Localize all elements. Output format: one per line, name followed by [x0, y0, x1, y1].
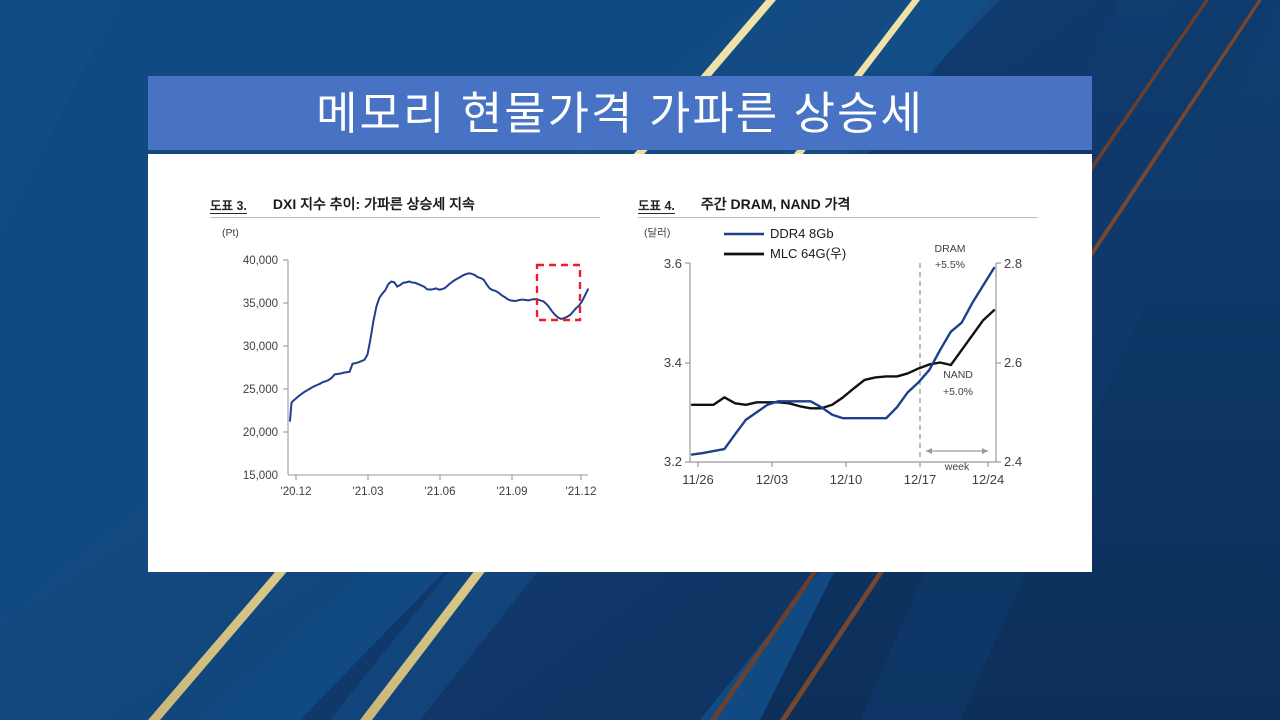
x-tick-2103: '21.03: [353, 486, 384, 498]
dram-nand-line-chart: (달러) DDR4 8Gb MLC 64G(우) 3.6 3.4 3.2 2.8…: [638, 218, 1038, 558]
y-right-tick-26: 2.6: [1004, 355, 1022, 370]
annotation-dram-label: DRAM: [935, 243, 966, 255]
legend-label-mlc: MLC 64G(우): [770, 246, 846, 261]
y-left-tick-36: 3.6: [664, 256, 682, 271]
x-tick-1203: 12/03: [756, 472, 789, 487]
y-right-tick-28: 2.8: [1004, 256, 1022, 271]
annotation-nand-label: NAND: [943, 369, 973, 381]
page-title: 메모리 현물가격 가파른 상승세: [316, 91, 924, 136]
chart-block-dxi: 도표 3. DXI 지수 추이: 가파른 상승세 지속 (Pt) 40,000 …: [210, 154, 600, 572]
x-tick-2109: '21.09: [497, 486, 528, 498]
chart-block-dram-nand: 도표 4. 주간 DRAM, NAND 가격 (달러) DDR4 8Gb MLC…: [638, 154, 1038, 572]
slide-title-bar: 메모리 현물가격 가파른 상승세: [148, 76, 1092, 150]
plot-area-dram-nand: (달러) DDR4 8Gb MLC 64G(우) 3.6 3.4 3.2 2.8…: [638, 218, 1038, 558]
x-tick-2106: '21.06: [425, 486, 456, 498]
y-right-tick-24: 2.4: [1004, 454, 1022, 469]
chart-title-4: 주간 DRAM, NAND 가격: [701, 194, 851, 214]
y-axis-unit-dxi: (Pt): [222, 227, 239, 239]
y-tick-35000: 35,000: [243, 298, 278, 310]
y-left-tick-32: 3.2: [664, 454, 682, 469]
dxi-line-chart: (Pt) 40,000 35,000 30,000 25,000 20,000 …: [210, 218, 600, 558]
week-arrow-head-right: [982, 448, 988, 454]
annotation-nand-value: +5.0%: [943, 386, 973, 398]
legend-label-ddr4: DDR4 8Gb: [770, 226, 834, 241]
plot-area-dxi: (Pt) 40,000 35,000 30,000 25,000 20,000 …: [210, 218, 600, 558]
week-arrow-head-left: [926, 448, 932, 454]
x-tick-1126: 11/26: [682, 472, 714, 487]
y-tick-20000: 20,000: [243, 427, 278, 439]
week-annotation-label: week: [944, 461, 970, 473]
chart-header-dxi: 도표 3. DXI 지수 추이: 가파른 상승세 지속: [210, 190, 600, 218]
chart-title-3: DXI 지수 추이: 가파른 상승세 지속: [273, 194, 475, 214]
y-left-tick-34: 3.4: [664, 355, 682, 370]
y-axis-unit-dram: (달러): [644, 227, 670, 239]
chart-index-label-4: 도표 4.: [638, 195, 675, 214]
chart-header-dram-nand: 도표 4. 주간 DRAM, NAND 가격: [638, 190, 1038, 218]
x-tick-2112: '21.12: [566, 486, 597, 498]
content-panel: 도표 3. DXI 지수 추이: 가파른 상승세 지속 (Pt) 40,000 …: [148, 154, 1092, 572]
y-tick-25000: 25,000: [243, 384, 278, 396]
y-tick-40000: 40,000: [243, 255, 278, 267]
y-tick-15000: 15,000: [243, 470, 278, 482]
dxi-series-line: [290, 273, 588, 420]
x-tick-1217: 12/17: [904, 472, 937, 487]
annotation-dram-value: +5.5%: [935, 259, 965, 271]
chart-index-label-3: 도표 3.: [210, 195, 247, 214]
x-tick-1224: 12/24: [972, 472, 1005, 487]
x-tick-2012: '20.12: [281, 486, 312, 498]
x-tick-1210: 12/10: [830, 472, 863, 487]
y-tick-30000: 30,000: [243, 341, 278, 353]
slide-root: 메모리 현물가격 가파른 상승세 도표 3. DXI 지수 추이: 가파른 상승…: [0, 0, 1280, 720]
ddr4-series-line: [692, 268, 994, 455]
